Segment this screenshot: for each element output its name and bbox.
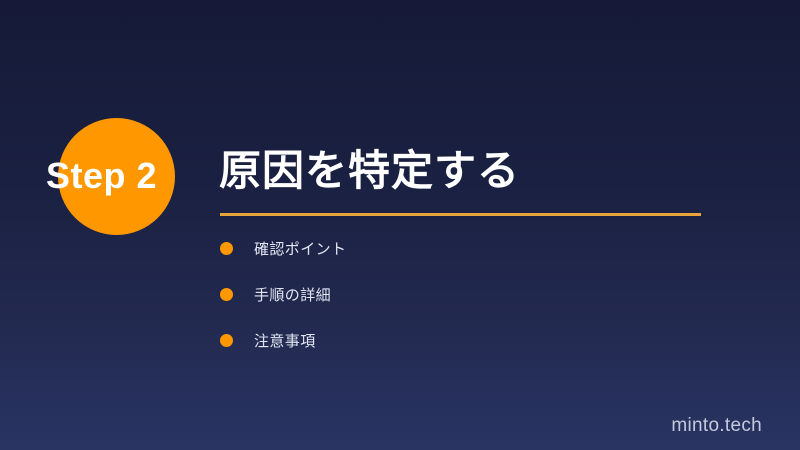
- list-item-label: 手順の詳細: [254, 284, 331, 305]
- bullet-list: 確認ポイント 手順の詳細 注意事項: [220, 234, 650, 372]
- slide-canvas: Step 2 原因を特定する 確認ポイント 手順の詳細 注意事項 minto.t…: [0, 0, 800, 450]
- list-item-label: 確認ポイント: [254, 238, 346, 259]
- list-item: 確認ポイント: [220, 234, 650, 262]
- page-title: 原因を特定する: [219, 146, 520, 196]
- footer-watermark: minto.tech: [671, 415, 762, 437]
- list-item: 手順の詳細: [220, 280, 650, 308]
- title-divider: [220, 213, 701, 216]
- dot-icon: [220, 334, 233, 347]
- list-item: 注意事項: [220, 326, 650, 354]
- list-item-label: 注意事項: [254, 330, 316, 351]
- dot-icon: [220, 242, 233, 255]
- dot-icon: [220, 288, 233, 301]
- step-badge-label: Step 2: [46, 152, 246, 200]
